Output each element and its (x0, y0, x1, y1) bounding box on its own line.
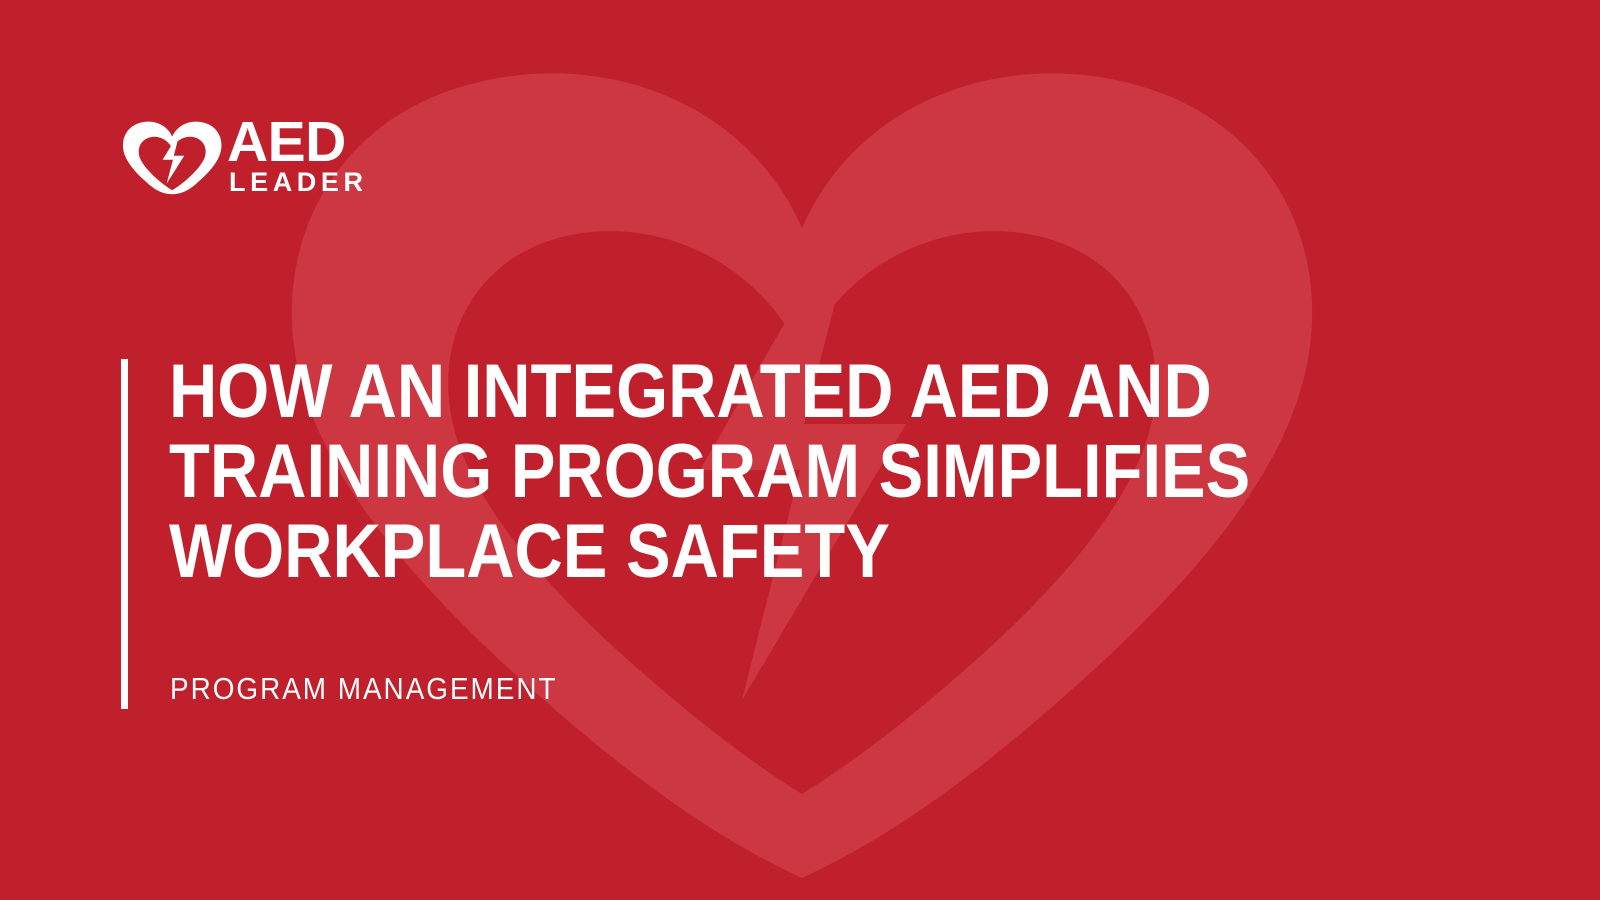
brand-name-secondary: LEADER (227, 168, 368, 196)
brand-logo[interactable]: AED LEADER (121, 112, 368, 198)
brand-name-primary: AED (227, 116, 368, 168)
heart-lightning-logo-icon (121, 115, 225, 195)
headline-line-3: WORKPLACE SAFETY (169, 512, 1207, 592)
headline-line-2: TRAINING PROGRAM SIMPLIFIES (169, 432, 1207, 512)
headline-block: HOW AN INTEGRATED AED AND TRAINING PROGR… (169, 352, 1349, 592)
category-label: PROGRAM MANAGEMENT (170, 671, 558, 707)
headline-line-1: HOW AN INTEGRATED AED AND (169, 352, 1207, 432)
article-hero-card: AED LEADER HOW AN INTEGRATED AED AND TRA… (0, 0, 1600, 900)
brand-wordmark: AED LEADER (227, 115, 368, 195)
accent-bar (121, 359, 128, 709)
page-title: HOW AN INTEGRATED AED AND TRAINING PROGR… (169, 352, 1207, 592)
